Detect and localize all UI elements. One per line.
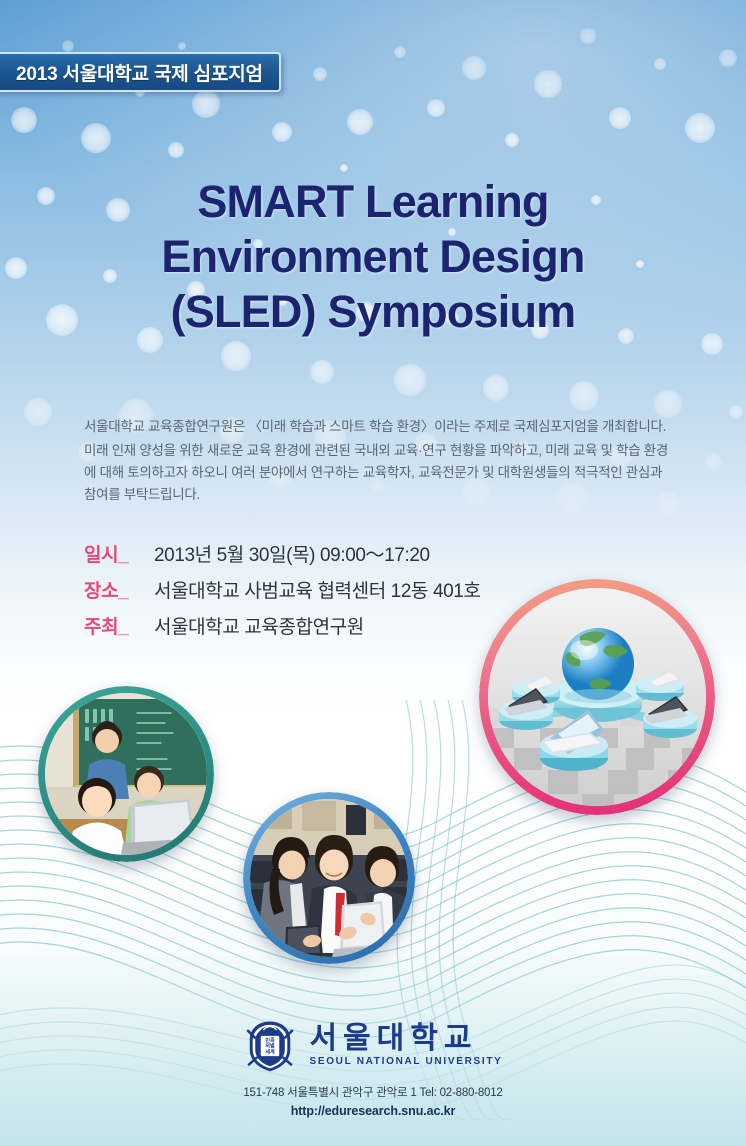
ribbon-label: 2013 서울대학교 국제 심포지엄 [16,59,263,86]
event-details: 일시_ 2013년 5월 30일(목) 09:00～17:20 장소_ 서울대학… [84,540,481,648]
detail-row-host: 주최_ 서울대학교 교육종합연구원 [84,612,481,639]
title-line-3: (SLED) Symposium [0,284,746,339]
university-logo: 민족 의별 세계 서울대학교 SEOUL NATIONAL UNIVERSITY [0,1019,746,1073]
university-name-block: 서울대학교 SEOUL NATIONAL UNIVERSITY [309,1023,502,1069]
website-url[interactable]: http://eduresearch.snu.ac.kr [0,1102,746,1120]
classroom-children-image [45,693,207,855]
classroom-children-photo [38,686,214,862]
global-network-image [488,588,706,806]
detail-value-host: 서울대학교 교육종합연구원 [154,612,364,639]
university-name-english: SEOUL NATIONAL UNIVERSITY [309,1055,502,1069]
contact-address: 151-748 서울특별시 관악구 관악로 1 Tel: 02-880-8012 [0,1085,746,1102]
title-line-2: Environment Design [0,229,746,284]
university-name-korean: 서울대학교 [309,1023,502,1055]
poster-footer: 민족 의별 세계 서울대학교 SEOUL NATIONAL UNIVERSITY… [0,1019,746,1120]
detail-label-venue: 장소_ [84,576,140,603]
students-laptop-photo [243,792,415,964]
detail-row-venue: 장소_ 서울대학교 사범교육 협력센터 12동 401호 [84,576,481,603]
detail-row-datetime: 일시_ 2013년 5월 30일(목) 09:00～17:20 [84,540,481,567]
intro-paragraph-2: 미래 인재 양성을 위한 새로운 교육 환경에 관련된 국내외 교육·연구 현황… [84,440,676,506]
detail-value-venue: 서울대학교 사범교육 협력센터 12동 401호 [154,576,481,603]
symposium-poster: 2013 서울대학교 국제 심포지엄 SMART Learning Enviro… [0,0,746,1146]
title-line-1: SMART Learning [0,174,746,229]
detail-label-datetime: 일시_ [84,540,140,567]
global-network-photo [479,579,715,815]
detail-label-host: 주최_ [84,612,140,639]
svg-text:민족: 민족 [266,1037,276,1044]
svg-text:의별: 의별 [266,1043,276,1050]
intro-paragraph-1: 서울대학교 교육종합연구원은 〈미래 학습과 스마트 학습 환경〉이라는 주제로… [84,416,676,438]
intro-paragraphs: 서울대학교 교육종합연구원은 〈미래 학습과 스마트 학습 환경〉이라는 주제로… [84,416,676,506]
event-ribbon-banner: 2013 서울대학교 국제 심포지엄 [0,52,281,92]
svg-text:세계: 세계 [266,1049,276,1056]
snu-crest-icon: 민족 의별 세계 [243,1019,297,1073]
detail-value-datetime: 2013년 5월 30일(목) 09:00～17:20 [154,540,430,567]
poster-title: SMART Learning Environment Design (SLED)… [0,174,746,339]
students-laptop-image [250,799,408,957]
